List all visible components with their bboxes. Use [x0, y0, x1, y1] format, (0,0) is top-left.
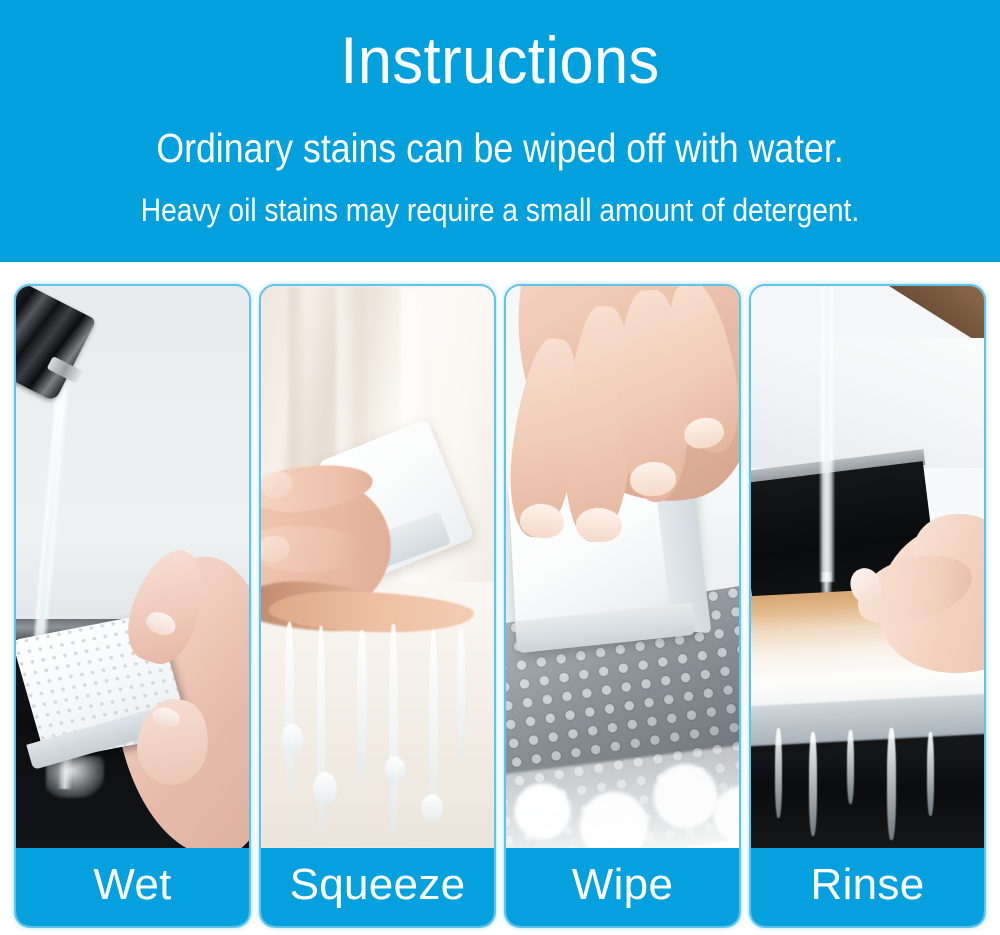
water-droplet-icon	[421, 794, 443, 824]
header-subtitle-line-1: Ordinary stains can be wiped off with wa…	[65, 124, 935, 172]
step-photo-rinse	[751, 286, 984, 848]
water-droplet-icon	[281, 724, 303, 754]
water-drip-icon	[389, 624, 398, 838]
water-drip-icon	[927, 732, 934, 816]
step-card-wipe: Wipe	[506, 286, 739, 926]
water-drip-icon	[457, 628, 465, 758]
step-label-rinse: Rinse	[811, 862, 925, 908]
header-banner: Instructions Ordinary stains can be wipe…	[0, 0, 1000, 262]
water-drip-icon	[285, 622, 294, 792]
step-label-wet: Wet	[93, 862, 171, 908]
counter-surface	[751, 338, 984, 468]
step-card-wet: Wet	[16, 286, 249, 926]
header-subtitle-line-2: Heavy oil stains may require a small amo…	[60, 191, 940, 229]
water-drip-icon	[847, 730, 854, 804]
step-photo-squeeze	[261, 286, 494, 848]
water-drip-icon	[357, 630, 367, 780]
water-drip-icon	[887, 728, 896, 840]
steps-row: Wet	[16, 286, 984, 926]
step-photo-wipe	[506, 286, 739, 848]
instructions-infographic: Instructions Ordinary stains can be wipe…	[0, 0, 1000, 935]
step-card-squeeze: Squeeze	[261, 286, 494, 926]
step-label-wipe: Wipe	[572, 862, 673, 908]
water-drip-icon	[809, 732, 817, 836]
water-droplet-icon	[385, 756, 405, 784]
step-card-rinse: Rinse	[751, 286, 984, 926]
step-label-bar-wet: Wet	[16, 848, 249, 926]
step-label-squeeze: Squeeze	[290, 862, 466, 908]
water-drip-icon	[775, 728, 782, 818]
step-label-bar-wipe: Wipe	[506, 848, 739, 926]
water-droplet-icon	[313, 772, 337, 806]
water-drip-icon	[429, 630, 438, 816]
page-title: Instructions	[35, 24, 965, 96]
step-label-bar-squeeze: Squeeze	[261, 848, 494, 926]
step-photo-wet	[16, 286, 249, 848]
step-label-bar-rinse: Rinse	[751, 848, 984, 926]
fingernail-middle	[575, 507, 622, 543]
water-stream-icon	[819, 286, 835, 582]
